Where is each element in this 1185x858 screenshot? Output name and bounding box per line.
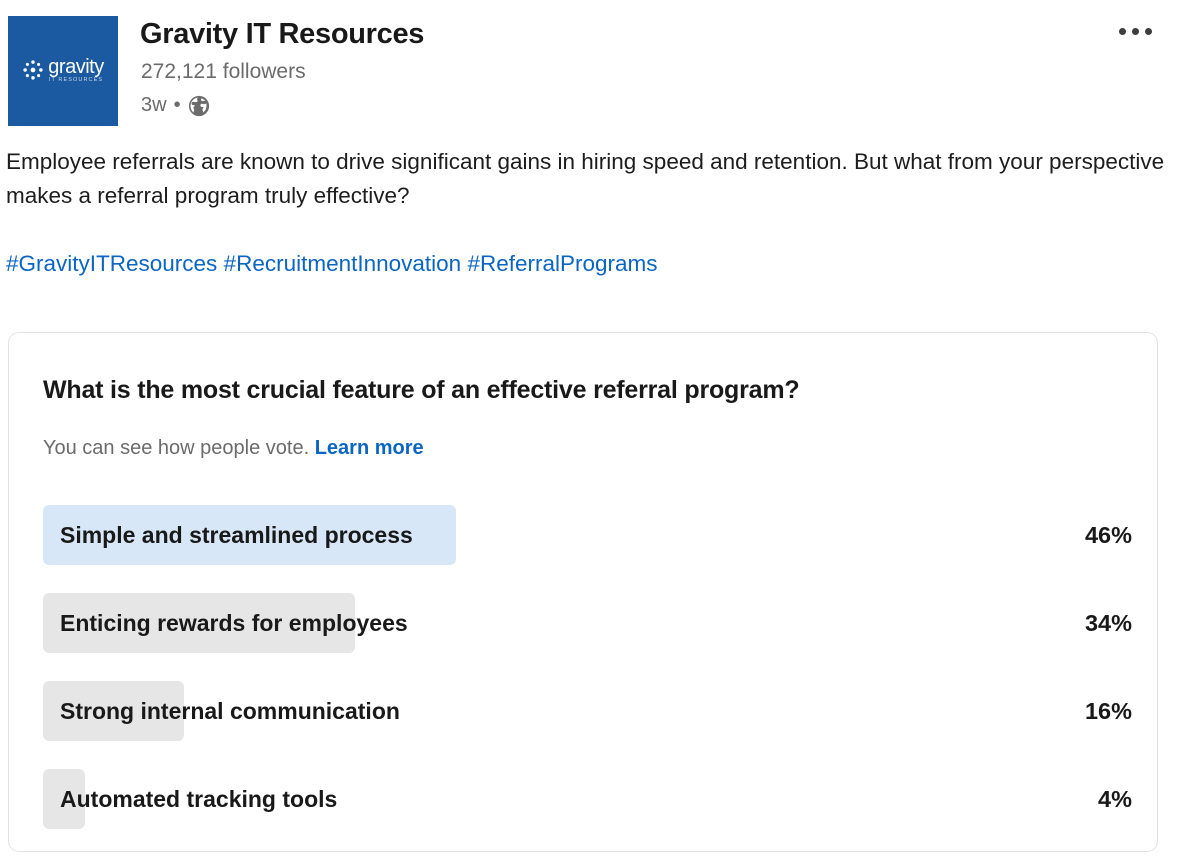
- logo-wordmark: gravity: [48, 57, 103, 77]
- poll-option-label: Enticing rewards for employees: [60, 593, 408, 653]
- poll-card: What is the most crucial feature of an e…: [8, 332, 1158, 852]
- post-overflow-menu-button[interactable]: [1110, 12, 1160, 50]
- poll-option-label: Strong internal communication: [60, 681, 400, 741]
- poll-option-row[interactable]: Automated tracking tools 4%: [9, 765, 1159, 853]
- poll-option-percent: 4%: [1098, 769, 1132, 829]
- poll-option-percent: 46%: [1085, 505, 1132, 565]
- post-hashtags[interactable]: #GravityITResources #RecruitmentInnovati…: [6, 251, 658, 276]
- post-header: gravity IT RESOURCES Gravity IT Resource…: [0, 0, 1185, 135]
- linkedin-post: gravity IT RESOURCES Gravity IT Resource…: [0, 0, 1185, 858]
- actor-name[interactable]: Gravity IT Resources: [140, 18, 424, 51]
- poll-option-label: Simple and streamlined process: [60, 505, 413, 565]
- company-logo: gravity IT RESOURCES: [22, 57, 103, 84]
- poll-question: What is the most crucial feature of an e…: [43, 376, 799, 405]
- learn-more-link[interactable]: Learn more: [315, 437, 424, 459]
- poll-option-row[interactable]: Simple and streamlined process 46%: [9, 501, 1159, 589]
- meta-separator: •: [174, 94, 181, 117]
- avatar[interactable]: gravity IT RESOURCES: [8, 16, 118, 126]
- snowflake-icon: [22, 59, 44, 81]
- poll-option-percent: 34%: [1085, 593, 1132, 653]
- actor-followers: 272,121 followers: [141, 60, 306, 84]
- post-text-line-1: Employee referrals are known to drive si…: [6, 149, 848, 174]
- post-age: 3w: [141, 94, 167, 117]
- poll-options-list: Simple and streamlined process 46% Entic…: [9, 501, 1159, 853]
- text-spacer: [6, 213, 1171, 247]
- poll-option-label: Automated tracking tools: [60, 769, 337, 829]
- logo-tagline: IT RESOURCES: [48, 78, 103, 84]
- globe-icon: [188, 95, 210, 117]
- ellipsis-dot: [1119, 28, 1126, 35]
- poll-option-row[interactable]: Strong internal communication 16%: [9, 677, 1159, 765]
- ellipsis-dot: [1145, 28, 1152, 35]
- post-body-text: Employee referrals are known to drive si…: [6, 145, 1171, 281]
- ellipsis-dot: [1132, 28, 1139, 35]
- poll-visibility-note: You can see how people vote. Learn more: [43, 437, 424, 460]
- post-meta: 3w •: [141, 94, 210, 117]
- poll-option-percent: 16%: [1085, 681, 1132, 741]
- poll-option-row[interactable]: Enticing rewards for employees 34%: [9, 589, 1159, 677]
- poll-visibility-text: You can see how people vote.: [43, 437, 309, 459]
